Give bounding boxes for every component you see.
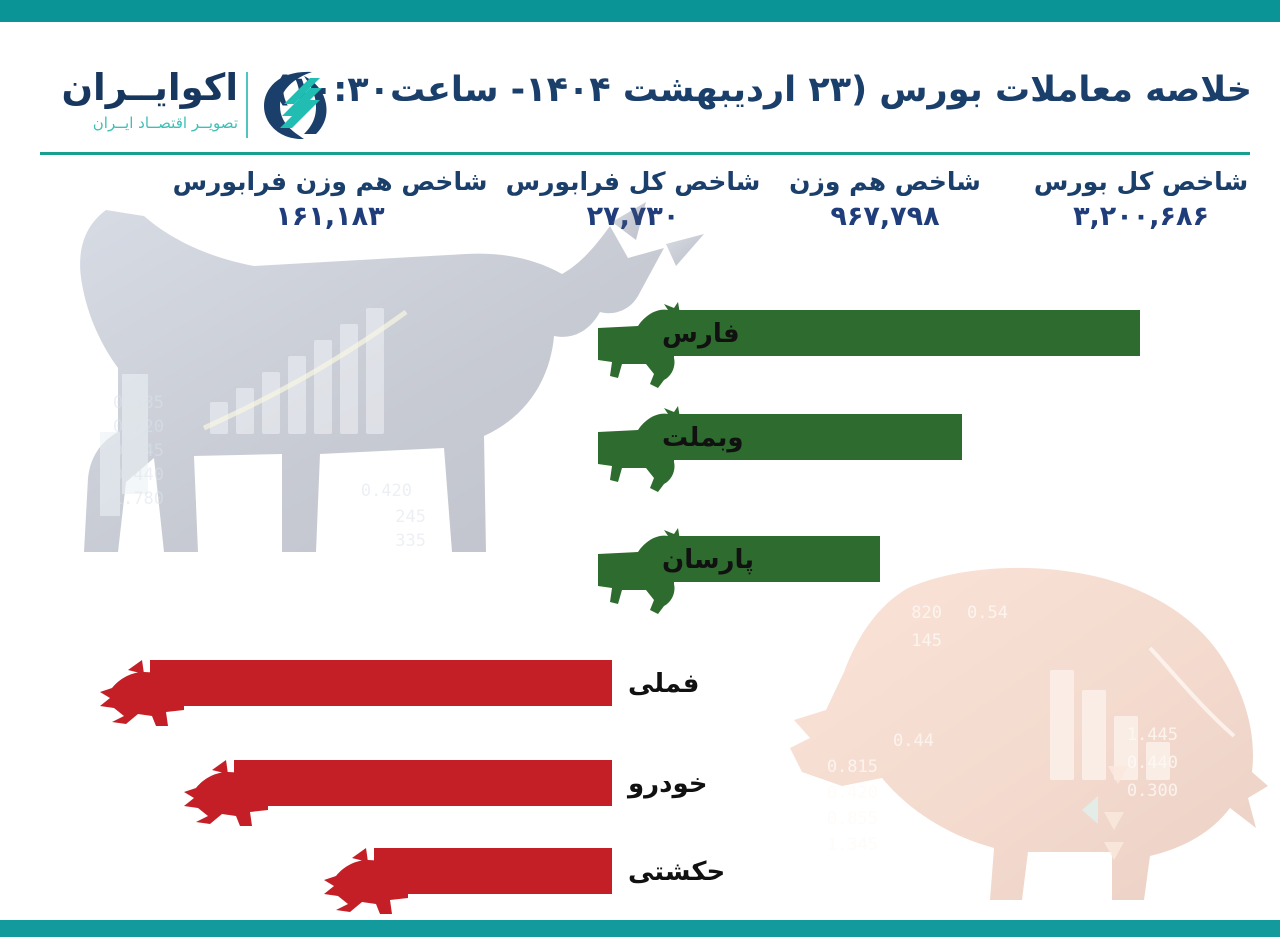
bar-label: وبملت (662, 418, 758, 458)
infographic-page: خلاصه معاملات بورس (۲۳ اردیبهشت ۱۴۰۴- سا… (0, 0, 1280, 937)
index-card-farabours-total: شاخص کل فرابورس ۲۷,۷۳۰ (498, 168, 768, 233)
chart-row: فملی (150, 646, 612, 718)
header: خلاصه معاملات بورس (۲۳ اردیبهشت ۱۴۰۴- سا… (0, 22, 1280, 152)
index-summary-strip: شاخص کل بورس ۳,۲۰۰,۶۸۶ شاخص هم وزن ۹۶۷,۷… (0, 168, 1280, 268)
index-card-farabours-equal-weight: شاخص هم وزن فرابورس ۱۶۱,۱۸۳ (165, 168, 495, 233)
index-name: شاخص هم وزن (765, 168, 1005, 197)
bar-negative[interactable] (150, 660, 612, 706)
index-name: شاخص کل بورس (1016, 168, 1266, 197)
chart-row: پارسان (662, 522, 880, 594)
index-value: ۳,۲۰۰,۶۸۶ (1016, 201, 1266, 233)
index-value: ۲۷,۷۳۰ (498, 201, 768, 233)
impact-bar-chart: فارس وبملت (0, 272, 1280, 902)
logo-divider (246, 72, 248, 138)
index-name: شاخص هم وزن فرابورس (165, 168, 495, 197)
bottom-accent-bar (0, 920, 1280, 937)
chart-row: وبملت (662, 400, 962, 472)
brand-logo[interactable]: اکوایــران تصویــر اقتصــاد ایــران (34, 62, 334, 158)
chart-row: حکشتی (374, 834, 612, 906)
index-value: ۹۶۷,۷۹۸ (765, 201, 1005, 233)
bar-label: حکشتی (612, 852, 725, 892)
bar-label: فملی (612, 664, 699, 704)
index-card-equal-weight: شاخص هم وزن ۹۶۷,۷۹۸ (765, 168, 1005, 233)
bar-label: پارسان (662, 540, 768, 580)
eco-iran-swoosh-icon (254, 66, 334, 144)
index-name: شاخص کل فرابورس (498, 168, 768, 197)
bar-label: فارس (662, 314, 754, 354)
index-card-total: شاخص کل بورس ۳,۲۰۰,۶۸۶ (1016, 168, 1266, 233)
bear-icon (98, 652, 194, 738)
page-title: خلاصه معاملات بورس (۲۳ اردیبهشت ۱۴۰۴- سا… (275, 70, 1252, 110)
chart-row: فارس (662, 296, 1140, 368)
bear-icon (322, 840, 418, 926)
chart-row: خودرو (234, 746, 612, 818)
header-divider-rule (40, 152, 1250, 155)
bar-label: خودرو (612, 764, 708, 804)
index-value: ۱۶۱,۱۸۳ (165, 201, 495, 233)
bear-icon (182, 752, 278, 838)
bar-negative[interactable] (234, 760, 612, 806)
bar-negative[interactable] (374, 848, 612, 894)
logo-wordmark: اکوایــران (61, 66, 238, 109)
top-accent-bar (0, 0, 1280, 22)
logo-tagline: تصویــر اقتصــاد ایــران (93, 114, 238, 132)
